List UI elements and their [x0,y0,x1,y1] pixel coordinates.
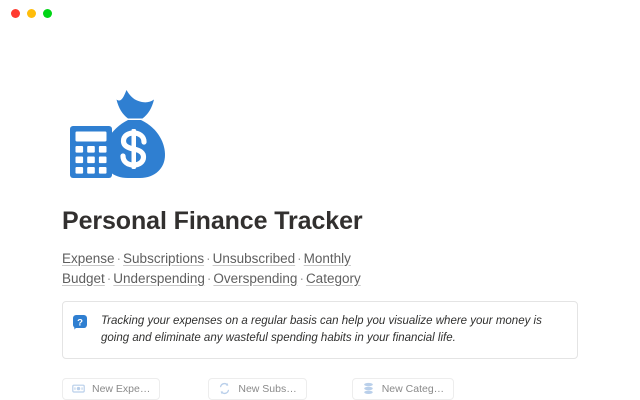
minimize-window-button[interactable] [27,9,36,18]
money-bag-calculator-icon [62,86,166,182]
action-button-row: New Expe… New Subs… [62,378,578,400]
link-separator: · [115,251,124,266]
link-subscriptions[interactable]: Subscriptions [123,251,204,266]
app-window: Personal Finance Tracker Expense·Subscri… [0,0,640,400]
new-expense-button[interactable]: New Expe… [62,378,160,400]
link-separator: · [297,271,306,286]
svg-text:?: ? [77,317,83,328]
link-expense[interactable]: Expense [62,251,115,266]
new-subscription-label: New Subs… [238,383,296,395]
callout-text: Tracking your expenses on a regular basi… [101,313,563,347]
window-controls [11,9,52,18]
link-unsubscribed[interactable]: Unsubscribed [213,251,296,266]
new-category-button[interactable]: New Categ… [352,378,454,400]
close-window-button[interactable] [11,9,20,18]
question-badge-icon: ? [72,314,88,330]
category-link-list: Expense·Subscriptions·Unsubscribed·Month… [62,249,562,289]
link-overspending[interactable]: Overspending [213,271,297,286]
info-callout: ? Tracking your expenses on a regular ba… [62,301,578,359]
new-subscription-button[interactable]: New Subs… [208,378,306,400]
banknote-icon [72,382,85,395]
sync-arrows-icon [218,382,231,395]
titlebar [0,0,640,26]
link-underspending[interactable]: Underspending [113,271,205,286]
maximize-window-button[interactable] [43,9,52,18]
link-separator: · [204,251,213,266]
new-category-label: New Categ… [382,383,444,395]
page-title: Personal Finance Tracker [62,208,578,236]
link-category[interactable]: Category [306,271,361,286]
link-separator: · [295,251,304,266]
page-content: Personal Finance Tracker Expense·Subscri… [0,86,640,400]
new-expense-label: New Expe… [92,383,150,395]
layers-stack-icon [362,382,375,395]
